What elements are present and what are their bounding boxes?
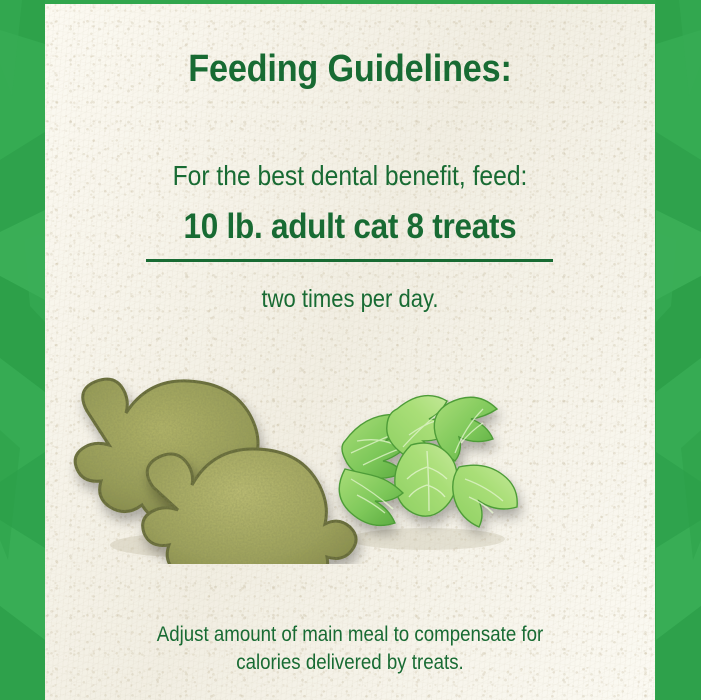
left-border-facets xyxy=(0,0,45,700)
footnote-text: Adjust amount of main meal to compensate… xyxy=(79,621,622,676)
right-border-facets xyxy=(656,0,701,700)
footnote-line-1: Adjust amount of main meal to compensate… xyxy=(79,621,622,648)
dosage-text: 10 lb. adult cat 8 treats xyxy=(76,207,625,247)
right-green-border xyxy=(656,0,701,700)
top-green-strip xyxy=(45,0,655,4)
page-title: Feeding Guidelines: xyxy=(76,48,625,91)
panel-content: Feeding Guidelines: For the best dental … xyxy=(45,4,655,700)
treat-front xyxy=(143,449,356,564)
footnote-line-2: calories delivered by treats. xyxy=(79,649,622,676)
product-imagery xyxy=(45,349,655,564)
dosage-underline-rule xyxy=(146,259,553,262)
frequency-text: two times per day. xyxy=(82,285,619,314)
feeding-guidelines-panel: Feeding Guidelines: For the best dental … xyxy=(0,0,701,700)
treats-and-mint-illustration xyxy=(45,349,655,564)
left-green-border xyxy=(0,0,45,700)
cream-paper-background: Feeding Guidelines: For the best dental … xyxy=(45,4,655,700)
feeding-intro-text: For the best dental benefit, feed: xyxy=(82,160,619,192)
mint-leaves xyxy=(339,396,517,527)
